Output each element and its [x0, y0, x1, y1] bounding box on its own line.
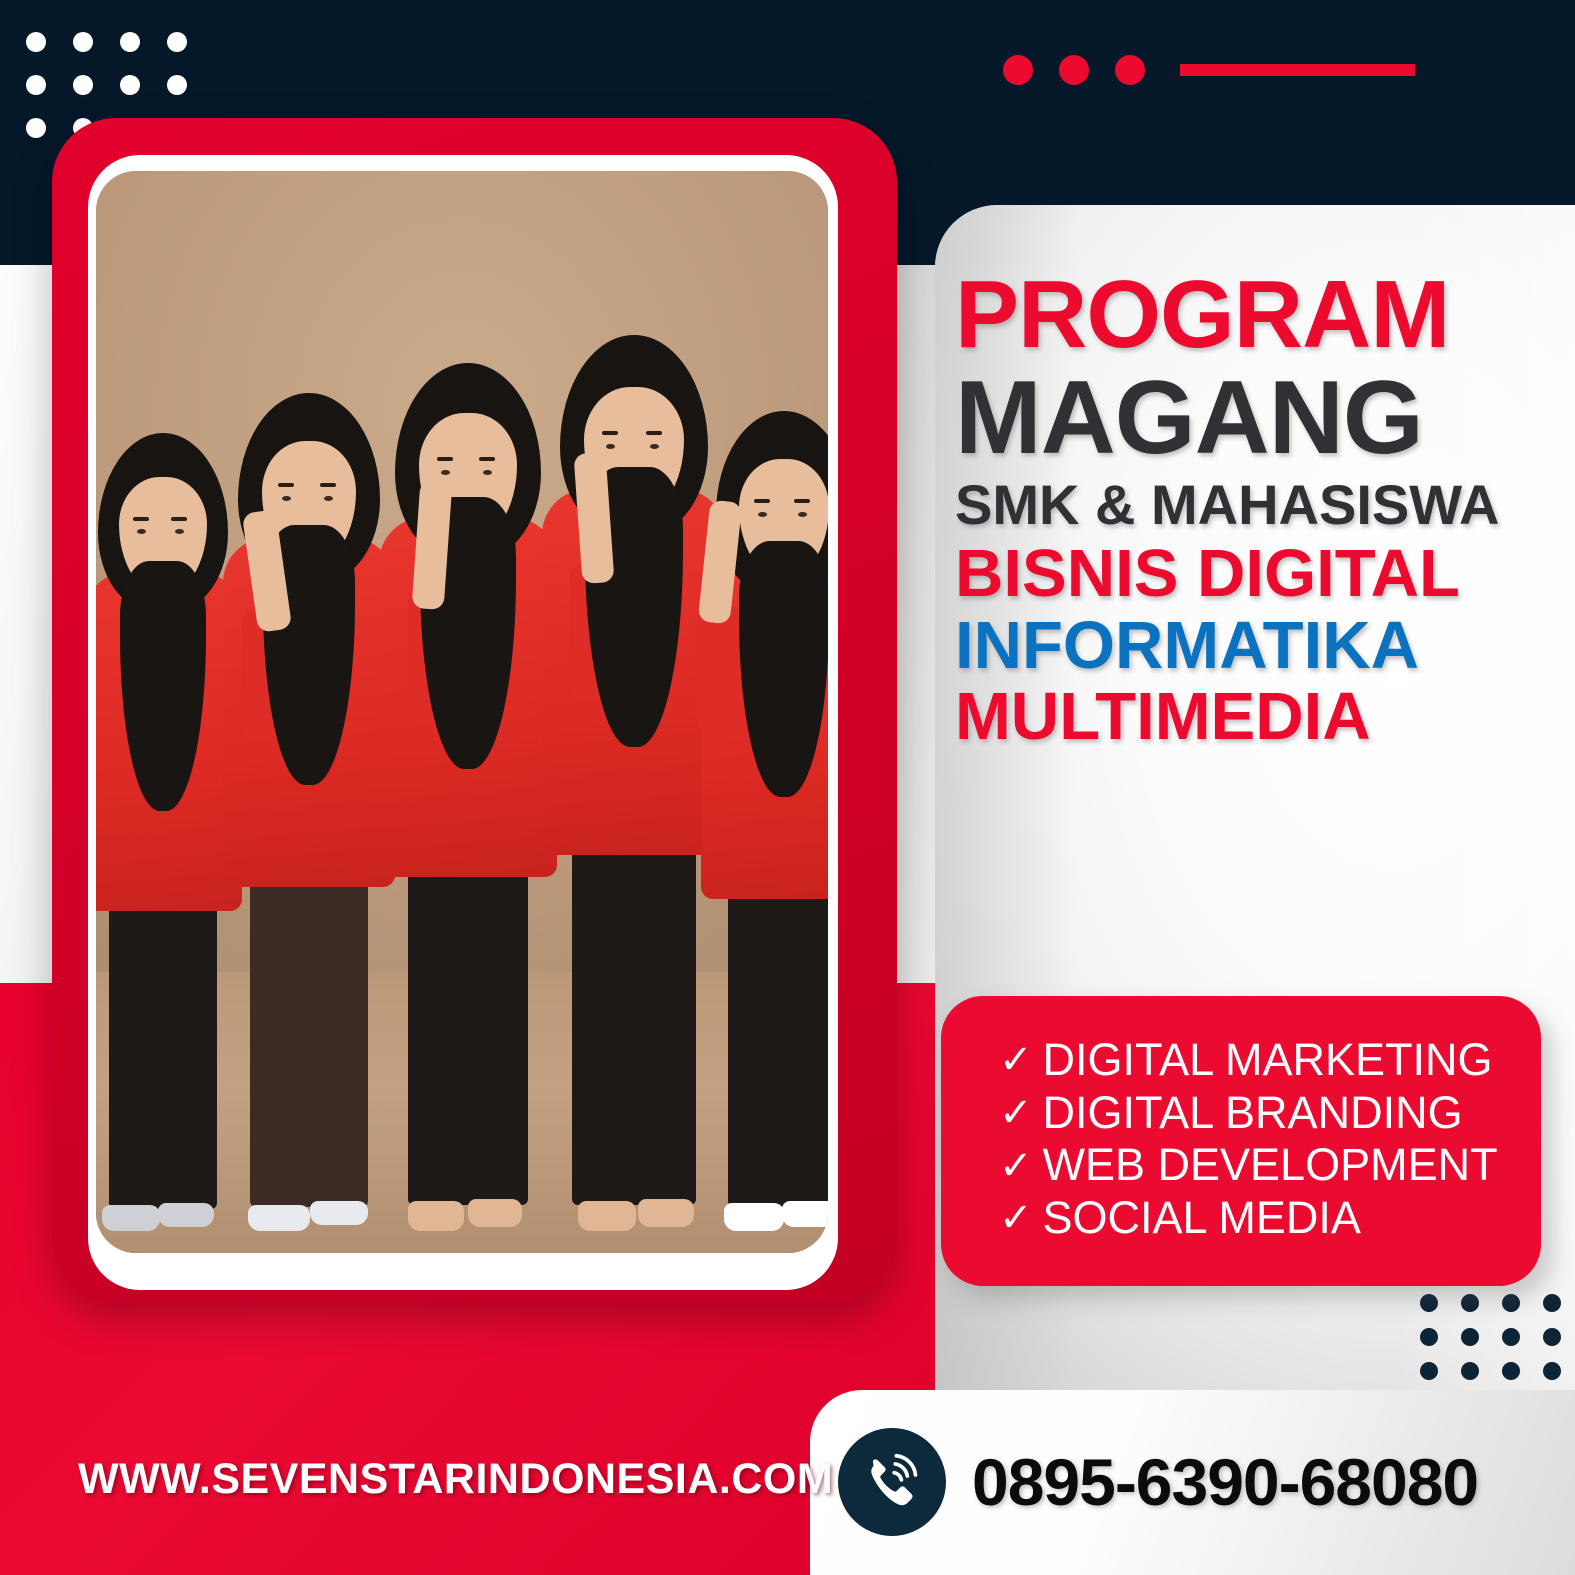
- person-brow: [602, 431, 618, 435]
- feature-label: WEB DEVELOPMENT: [1043, 1139, 1498, 1192]
- list-item: ✓ WEB DEVELOPMENT: [999, 1139, 1541, 1192]
- person-eye: [282, 496, 291, 501]
- person-eye: [798, 512, 807, 517]
- website-url[interactable]: WWW.SEVENSTARINDONESIA.COM: [78, 1455, 833, 1504]
- team-photo: [96, 171, 828, 1253]
- list-item: ✓ DIGITAL BRANDING: [999, 1087, 1541, 1140]
- list-item: ✓ DIGITAL MARKETING: [999, 1034, 1541, 1087]
- person-pants: [408, 845, 528, 1205]
- feature-list-card: ✓ DIGITAL MARKETING ✓ DIGITAL BRANDING ✓…: [941, 996, 1541, 1286]
- check-icon: ✓: [999, 1146, 1033, 1186]
- person-sock: [248, 1205, 310, 1231]
- person-pants: [728, 867, 828, 1207]
- person-brow: [479, 457, 495, 461]
- headline-program: PROGRAM: [955, 268, 1555, 362]
- person-eye: [175, 529, 184, 534]
- promo-poster: PROGRAM MAGANG SMK & MAHASISWA BISNIS DI…: [0, 0, 1575, 1575]
- dot-grid-icon-bottom-right: [1420, 1294, 1561, 1380]
- check-icon: ✓: [999, 1040, 1033, 1080]
- dot-icon: [1543, 1294, 1561, 1312]
- dot-icon: [1502, 1294, 1520, 1312]
- feature-label: SOCIAL MEDIA: [1043, 1192, 1361, 1245]
- person-eye: [650, 444, 659, 449]
- person-eye: [441, 470, 450, 475]
- person-brow: [171, 517, 187, 521]
- person-sock: [724, 1203, 784, 1231]
- dot-icon: [1461, 1362, 1479, 1380]
- dot-icon: [167, 32, 187, 52]
- dot-icon: [120, 75, 140, 95]
- person-pants: [250, 857, 368, 1207]
- dot-icon: [1543, 1328, 1561, 1346]
- dot-icon: [26, 118, 46, 138]
- headline-major-informatika: INFORMATIKA: [955, 613, 1555, 679]
- person-eye: [137, 529, 146, 534]
- dot-icon: [1420, 1362, 1438, 1380]
- person-eye: [483, 470, 492, 475]
- headline-major-bisnis-digital: BISNIS DIGITAL: [955, 541, 1555, 607]
- person-foot: [578, 1201, 636, 1231]
- dot-icon: [73, 75, 93, 95]
- feature-label: DIGITAL MARKETING: [1043, 1034, 1493, 1087]
- person-sock: [158, 1203, 214, 1227]
- person-eye: [324, 496, 333, 501]
- dot-icon: [1502, 1362, 1520, 1380]
- red-rule-divider: [1180, 64, 1415, 76]
- dot-icon: [1420, 1328, 1438, 1346]
- headline-block: PROGRAM MAGANG SMK & MAHASISWA BISNIS DI…: [955, 268, 1555, 750]
- check-icon: ✓: [999, 1198, 1033, 1238]
- dot-icon: [1461, 1294, 1479, 1312]
- person-foot: [408, 1201, 464, 1231]
- red-dot-icon: [1115, 55, 1145, 85]
- dot-icon: [120, 32, 140, 52]
- dot-icon: [73, 32, 93, 52]
- person-foot: [468, 1199, 522, 1227]
- headline-subtitle-audience: SMK & MAHASISWA: [955, 478, 1555, 533]
- red-dot-icon: [1059, 55, 1089, 85]
- feature-label: DIGITAL BRANDING: [1043, 1087, 1463, 1140]
- person-brow: [278, 483, 294, 487]
- person-brow: [320, 483, 336, 487]
- phone-contact[interactable]: 0895-6390-68080: [838, 1428, 1478, 1536]
- dot-icon: [26, 75, 46, 95]
- dot-icon: [1461, 1328, 1479, 1346]
- person-sock: [102, 1205, 160, 1231]
- person-figure: [694, 351, 828, 1231]
- dot-icon: [26, 32, 46, 52]
- three-red-dots-icon: [1003, 55, 1145, 85]
- person-brow: [754, 499, 770, 503]
- dot-icon: [1420, 1294, 1438, 1312]
- list-item: ✓ SOCIAL MEDIA: [999, 1192, 1541, 1245]
- headline-major-multimedia: MULTIMEDIA: [955, 684, 1555, 750]
- person-brow: [646, 431, 662, 435]
- headline-magang: MAGANG: [955, 368, 1555, 470]
- person-brow: [794, 499, 810, 503]
- person-eye: [606, 444, 615, 449]
- person-pants: [109, 879, 217, 1209]
- check-icon: ✓: [999, 1093, 1033, 1133]
- dot-icon: [167, 75, 187, 95]
- person-brow: [437, 457, 453, 461]
- person-brow: [133, 517, 149, 521]
- phone-call-icon: [838, 1428, 946, 1536]
- person-pants: [572, 823, 696, 1205]
- person-eye: [758, 512, 767, 517]
- dot-icon: [1502, 1328, 1520, 1346]
- person-foot: [638, 1199, 694, 1227]
- red-dot-icon: [1003, 55, 1033, 85]
- person-sock: [782, 1201, 828, 1227]
- dot-icon: [1543, 1362, 1561, 1380]
- person-sock: [310, 1201, 368, 1225]
- phone-number: 0895-6390-68080: [972, 1444, 1478, 1520]
